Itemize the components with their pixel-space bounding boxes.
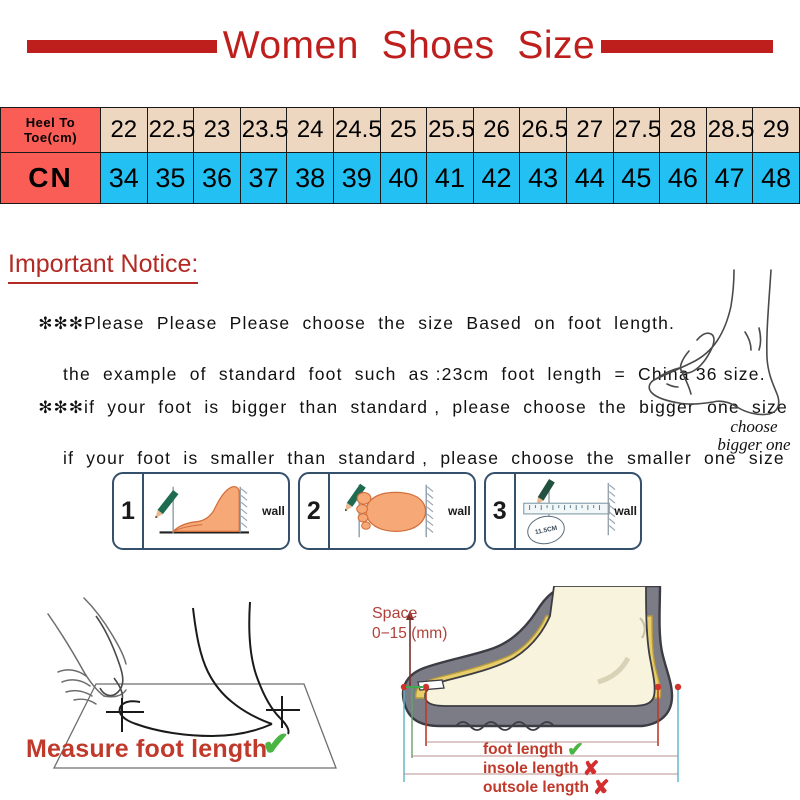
step-number: 1 (114, 474, 144, 548)
step-3-illustration: 11.5CM wall (516, 474, 640, 548)
cm-cell: 29 (753, 108, 800, 153)
cm-cell: 25 (380, 108, 427, 153)
check-mark-icon: ✔ (262, 727, 290, 760)
asterisk-marker: ✻✻✻ (38, 398, 84, 417)
space-label-line-2: 0−15 (mm) (372, 624, 447, 643)
page-title: Women Shoes Size (223, 24, 595, 68)
cm-cell: 23.5 (240, 108, 287, 153)
row-header-heel-to-toe: Heel To Toe(cm) (1, 108, 101, 153)
cn-cell: 35 (147, 153, 194, 204)
step-number: 2 (300, 474, 330, 548)
cn-cell: 41 (427, 153, 474, 204)
important-notice-heading: Important Notice: (8, 250, 198, 284)
cn-cell: 40 (380, 153, 427, 204)
cm-cell: 26.5 (520, 108, 567, 153)
asterisk-marker: ✻✻✻ (38, 314, 84, 333)
space-label-line-1: Space (372, 604, 447, 624)
cn-cell: 42 (473, 153, 520, 204)
notice-text: if your foot is smaller than standard , … (63, 448, 788, 469)
space-label: Space 0−15 (mm) (372, 604, 447, 643)
length-label: outsole length (483, 779, 589, 797)
cn-cell: 44 (566, 153, 613, 204)
foot-side-sketch-icon (645, 262, 800, 442)
cm-cell: 28 (660, 108, 707, 153)
measure-foot-length-label: Measure foot length (26, 735, 267, 764)
cm-cell: 25.5 (427, 108, 474, 153)
cross-mark-icon: ✘ (583, 759, 600, 779)
cn-cell: 38 (287, 153, 334, 204)
cn-cell: 45 (613, 153, 660, 204)
step-2-illustration: wall (330, 474, 474, 548)
cm-cell: 22.5 (147, 108, 194, 153)
cm-cell: 22 (101, 108, 148, 153)
size-conversion-table: Heel To Toe(cm) 22 22.5 23 23.5 24 24.5 … (0, 107, 800, 204)
choose-bigger-caption: choose bigger one (694, 418, 800, 455)
cm-cell: 28.5 (706, 108, 753, 153)
choose-bigger-line-2: bigger one (694, 436, 800, 454)
page-title-band: Women Shoes Size (0, 18, 800, 74)
row-header-cn: CN (1, 153, 101, 204)
step-1-illustration: wall (144, 474, 288, 548)
cm-cell: 26 (473, 108, 520, 153)
check-mark-icon: ✔ (567, 740, 584, 760)
step-number: 3 (486, 474, 516, 548)
wall-label: wall (262, 504, 285, 518)
cm-cell: 27.5 (613, 108, 660, 153)
cn-cell: 39 (333, 153, 380, 204)
cn-cell: 47 (706, 153, 753, 204)
length-legend: foot length ✔ insole length ✘ outsole le… (483, 740, 733, 797)
title-rule-left (27, 40, 217, 53)
length-row-insole: insole length ✘ (483, 759, 733, 778)
cm-cell: 27 (566, 108, 613, 153)
length-label: insole length (483, 760, 579, 778)
cm-cell: 23 (194, 108, 241, 153)
step-panel-1: 1 (112, 472, 290, 550)
length-label: foot length (483, 741, 563, 759)
choose-bigger-line-1: choose (694, 418, 800, 436)
step-panel-3: 3 (484, 472, 642, 550)
measuring-steps: 1 (112, 472, 642, 546)
cn-cell: 34 (101, 153, 148, 204)
length-row-foot: foot length ✔ (483, 740, 733, 759)
table-row-cn: CN 34 35 36 37 38 39 40 41 42 43 44 45 4… (1, 153, 800, 204)
cn-cell: 37 (240, 153, 287, 204)
cm-cell: 24.5 (333, 108, 380, 153)
notice-text: Please Please Please choose the size Bas… (84, 313, 675, 333)
wall-label: wall (614, 504, 637, 518)
cn-cell: 48 (753, 153, 800, 204)
table-row-heel-to-toe: Heel To Toe(cm) 22 22.5 23 23.5 24 24.5 … (1, 108, 800, 153)
length-row-outsole: outsole length ✘ (483, 778, 733, 797)
cn-cell: 43 (520, 153, 567, 204)
cn-cell: 46 (660, 153, 707, 204)
cm-cell: 24 (287, 108, 334, 153)
cn-cell: 36 (194, 153, 241, 204)
step-panel-2: 2 (298, 472, 476, 550)
title-rule-right (601, 40, 773, 53)
cross-mark-icon: ✘ (593, 778, 610, 798)
wall-label: wall (448, 504, 471, 518)
